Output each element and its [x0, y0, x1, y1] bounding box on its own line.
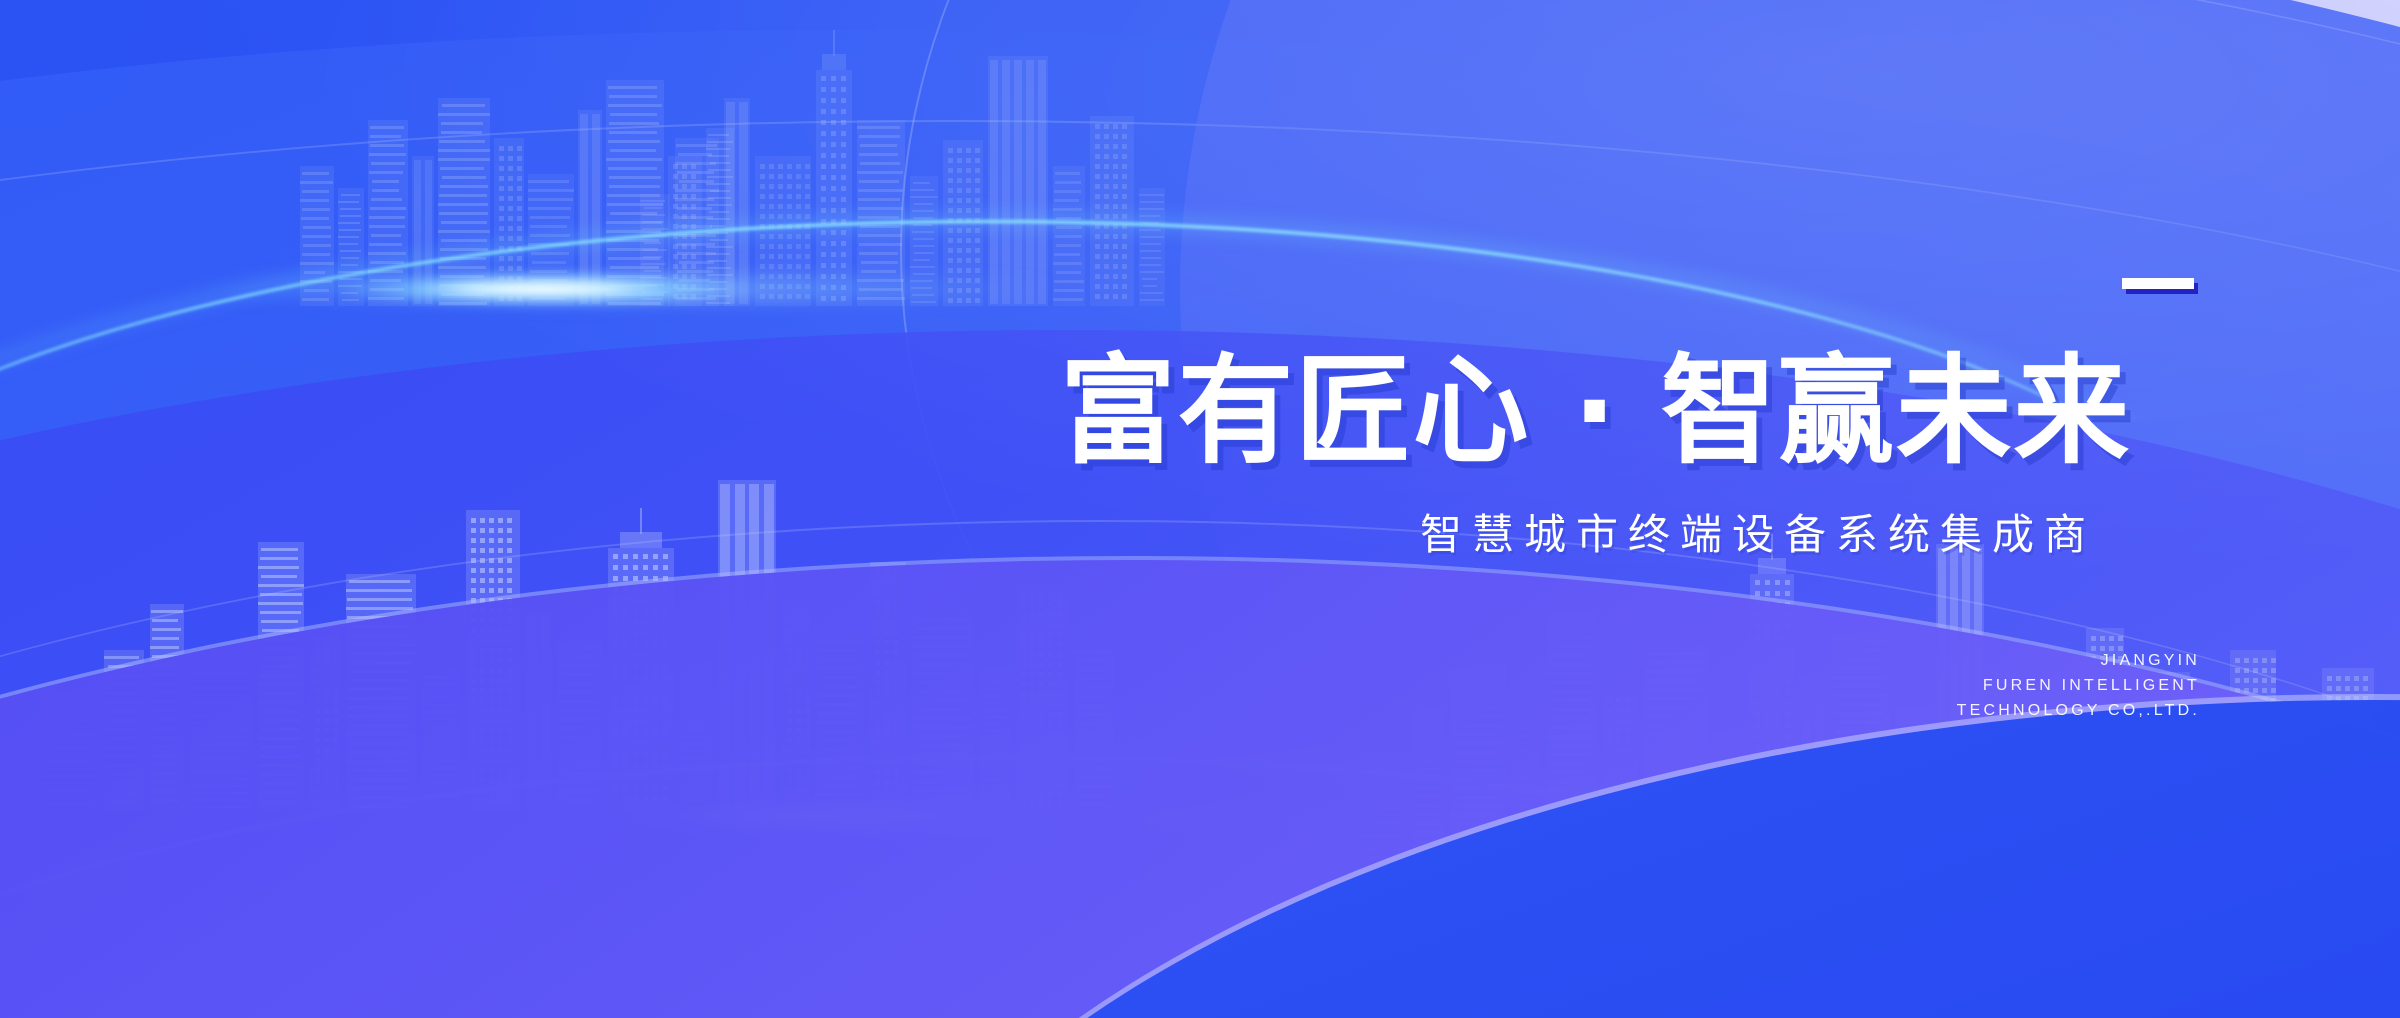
glow-arc-upper-hotspot — [330, 272, 750, 306]
company-name-line-3: TECHNOLOGY CO,.LTD. — [1957, 698, 2200, 723]
company-name-line-2: FUREN INTELLIGENT — [1957, 673, 2200, 698]
dash-marker — [2122, 278, 2194, 289]
page-title: 富有匠心 · 智赢未来 — [1060, 352, 2187, 470]
company-name-line-1: JIANGYIN — [1957, 648, 2200, 673]
page-subtitle: 智慧城市终端设备系统集成商 — [1420, 514, 2096, 556]
company-name-en: JIANGYIN FUREN INTELLIGENT TECHNOLOGY CO… — [1957, 648, 2200, 723]
headline-block: 富有匠心 · 智赢未来 — [1060, 352, 2210, 470]
banner-canvas: 富有匠心 · 智赢未来 智慧城市终端设备系统集成商 JIANGYIN FUREN… — [0, 0, 2400, 1018]
